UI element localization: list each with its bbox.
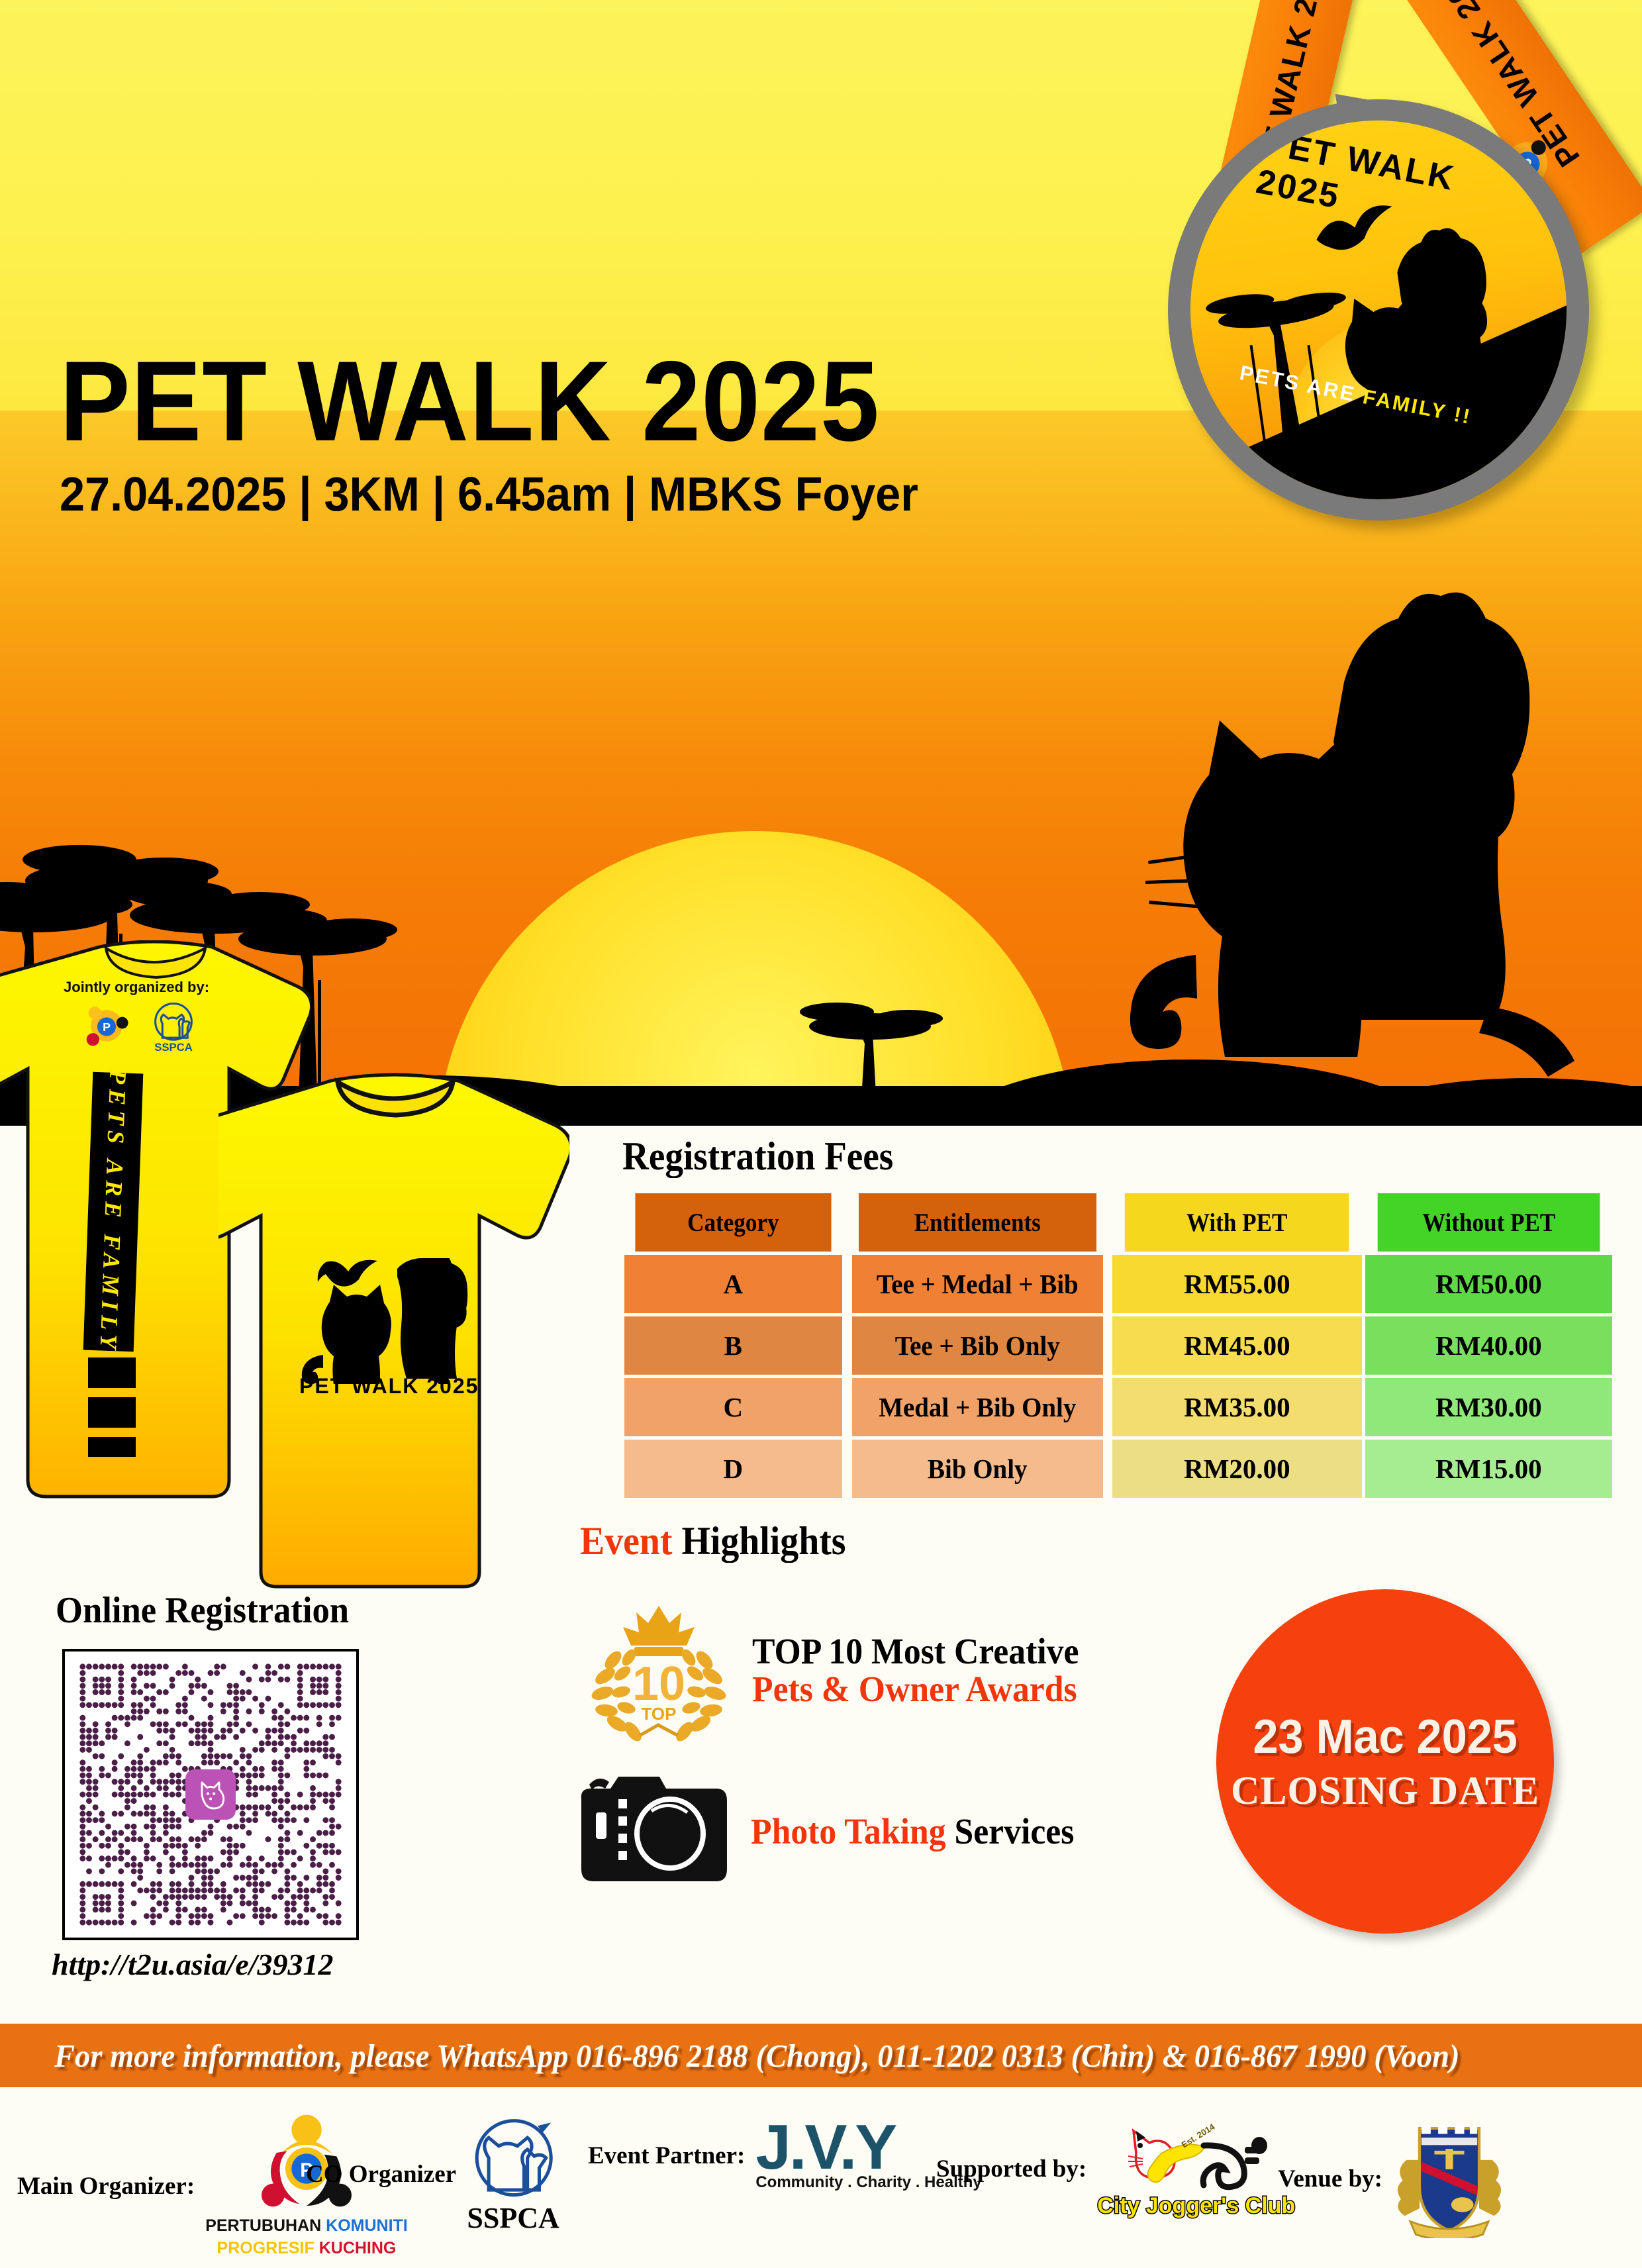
tshirt-front-print-text: PET WALK 2025	[299, 1374, 479, 1399]
highlight-photo-text-black: Services	[946, 1811, 1075, 1851]
table-header-row: Category Entitlements With PET Without P…	[624, 1193, 1612, 1252]
registration-fees-table: Category Entitlements With PET Without P…	[621, 1190, 1616, 1501]
cat-face-icon	[193, 1777, 228, 1812]
event-details-subtitle: 27.04.2025 | 3KM | 6.45am | MBKS Foyer	[60, 470, 918, 520]
cell-without-pet: RM30.00	[1365, 1378, 1612, 1436]
cell-without-pet: RM15.00	[1365, 1440, 1612, 1498]
table-row: BTee + Bib OnlyRM45.00RM40.00	[624, 1316, 1612, 1375]
qr-center-logo	[185, 1769, 236, 1820]
stripe-block-3	[88, 1437, 136, 1457]
kpk-line2-a: PROGRESIF	[217, 2239, 319, 2257]
table-row: ATee + Medal + BibRM55.00RM50.00	[624, 1255, 1612, 1313]
th-entitlements: Entitlements	[859, 1193, 1096, 1252]
closing-date-label: CLOSING DATE	[1231, 1768, 1539, 1814]
cell-entitlements: Tee + Bib Only	[852, 1316, 1103, 1375]
mbks-crest-logo	[1393, 2119, 1506, 2238]
contact-info-text: For more information, please WhatsApp 01…	[54, 2037, 1460, 2075]
cell-entitlements: Bib Only	[852, 1440, 1103, 1498]
stripe-block-2	[88, 1397, 136, 1428]
cell-category: C	[624, 1378, 842, 1436]
page-title: PET WALK 2025	[60, 348, 900, 456]
top10-laurel-icon: 10 TOP	[576, 1599, 742, 1742]
svg-text:10: 10	[632, 1657, 685, 1710]
cell-category: B	[624, 1316, 842, 1375]
cell-entitlements: Tee + Medal + Bib	[852, 1255, 1103, 1313]
cell-with-pet: RM35.00	[1112, 1378, 1361, 1436]
online-registration-url[interactable]: http://t2u.asia/e/39312	[52, 1947, 334, 1982]
event-highlights-heading: Event Highlights	[580, 1518, 846, 1564]
sponsor-footer: Main Organizer: P PERTUBUHAN KOMUNITI	[0, 2087, 1642, 2268]
title-block: PET WALK 2025 27.04.2025 | 3KM | 6.45am …	[60, 348, 963, 520]
sspca-logo: SSPCA	[467, 2114, 559, 2235]
acacia-tree-center	[781, 980, 953, 1132]
cell-without-pet: RM50.00	[1365, 1255, 1612, 1313]
table-row: DBib OnlyRM20.00RM15.00	[624, 1440, 1612, 1498]
svg-text:P: P	[103, 1020, 111, 1034]
sponsor-label-co-organizer: CO Organizer	[306, 2160, 456, 2189]
sspca-name: SSPCA	[467, 2201, 559, 2235]
mbks-crest-icon	[1393, 2119, 1506, 2238]
th-category: Category	[635, 1193, 831, 1252]
medal-graphic: PET WALK 2025 PET WALK 2025 P	[1126, 0, 1642, 649]
highlight-top10-text: TOP 10 Most Creative Pets & Owner Awards	[752, 1633, 1100, 1707]
city-joggers-cat-icon: Est. 2014	[1120, 2119, 1273, 2193]
qr-code-box[interactable]	[62, 1649, 359, 1940]
sponsor-label-venue-by: Venue by:	[1278, 2165, 1382, 2193]
cell-category: A	[624, 1255, 842, 1313]
closing-date-badge: 23 Mac 2025 CLOSING DATE	[1216, 1589, 1554, 1934]
sponsor-label-event-partner: Event Partner:	[588, 2142, 745, 2170]
sspca-icon-label: SSPCA	[154, 1041, 193, 1054]
sponsor-co-organizer: CO Organizer SSPCA	[306, 2114, 559, 2235]
cell-with-pet: RM55.00	[1112, 1255, 1361, 1313]
sponsor-label-supported-by: Supported by:	[936, 2155, 1087, 2183]
highlight-item-photo: Photo Taking Services	[569, 1765, 1095, 1897]
camera-icon	[569, 1765, 742, 1897]
closing-date-value: 23 Mac 2025	[1253, 1710, 1517, 1764]
sponsor-supported-by: Supported by: Est. 2014 City Jogger's Cl…	[936, 2119, 1295, 2219]
highlight-item-top10: 10 TOP TOP 10 Most Creative Pets & Owner…	[576, 1599, 1100, 1742]
sponsor-event-partner: Event Partner: J.V.Y Community . Charity…	[588, 2119, 982, 2192]
sponsor-venue-by: Venue by:	[1278, 2119, 1506, 2238]
tshirt-back-side-text: PETS ARE FAMILY	[83, 1072, 144, 1352]
cell-category: D	[624, 1440, 842, 1498]
th-without-pet: Without PET	[1377, 1193, 1600, 1252]
cell-entitlements: Medal + Bib Only	[852, 1378, 1103, 1436]
contact-bar: For more information, please WhatsApp 01…	[0, 2024, 1642, 2087]
kpk-line2-b: KUCHING	[319, 2239, 397, 2257]
registration-fees-heading: Registration Fees	[622, 1134, 893, 1179]
sponsor-label-main-organizer: Main Organizer:	[17, 2172, 195, 2200]
city-joggers-club-name: City Jogger's Club	[1097, 2193, 1295, 2219]
highlight-top10-line1: TOP 10 Most Creative	[752, 1633, 1079, 1670]
progresif-kuching-name-line2: PROGRESIF KUCHING	[205, 2238, 408, 2258]
tshirt-back-credit-label: Jointly organized by:	[64, 979, 209, 996]
progresif-kuching-icon-on-shirt: P	[82, 1001, 131, 1050]
event-highlights-heading-black: Highlights	[673, 1519, 846, 1563]
table-row: CMedal + Bib OnlyRM35.00RM30.00	[624, 1378, 1612, 1436]
online-registration-heading: Online Registration	[56, 1589, 349, 1632]
sspca-icon	[467, 2114, 559, 2204]
tshirt-back-side-stripe: PETS ARE FAMILY	[83, 1072, 144, 1352]
cat-and-dog-silhouette	[1126, 583, 1629, 1112]
medal-face: PET WALK 2025 PETS ARE FAMILY !!	[1166, 96, 1591, 523]
tshirt-front-pets-icon	[291, 1258, 497, 1384]
th-with-pet: With PET	[1125, 1193, 1349, 1252]
pet-walk-poster: PET WALK 2025 27.04.2025 | 3KM | 6.45am …	[0, 0, 1642, 2268]
highlight-photo-text: Photo Taking Services	[751, 1810, 1074, 1852]
city-joggers-club-logo: Est. 2014 City Jogger's Club	[1097, 2119, 1295, 2219]
svg-text:TOP: TOP	[642, 1704, 677, 1724]
highlight-top10-line2: Pets & Owner Awards	[752, 1671, 1079, 1708]
highlight-photo-text-red: Photo Taking	[751, 1811, 946, 1851]
cell-with-pet: RM20.00	[1112, 1440, 1361, 1498]
event-highlights-heading-red: Event	[580, 1519, 673, 1563]
stripe-block-1	[88, 1357, 136, 1388]
sspca-icon-on-shirt: SSPCA	[148, 1001, 199, 1054]
cell-with-pet: RM45.00	[1112, 1316, 1361, 1375]
cell-without-pet: RM40.00	[1365, 1316, 1612, 1375]
